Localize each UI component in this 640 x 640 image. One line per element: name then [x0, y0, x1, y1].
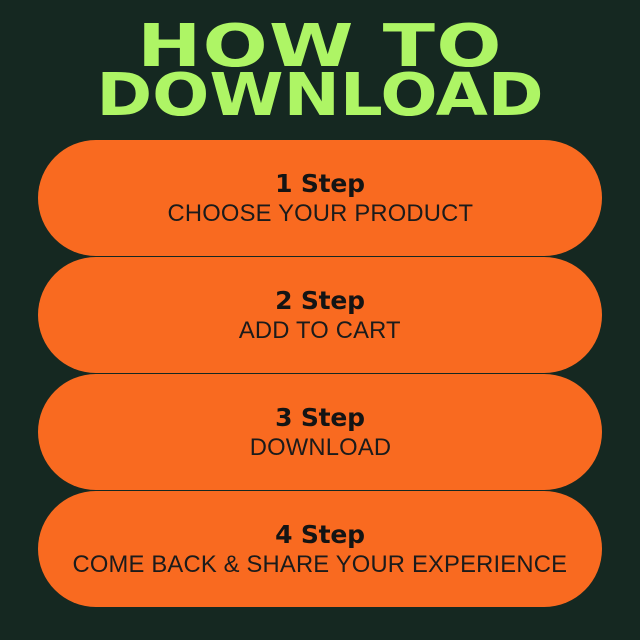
steps-list: 1 Step CHOOSE YOUR PRODUCT 2 Step ADD TO… [0, 140, 640, 620]
step-heading-4: 4 Step [275, 521, 365, 548]
step-heading-1: 1 Step [275, 170, 365, 197]
title-line-2: DOWNLOAD [0, 69, 640, 121]
step-card-2[interactable]: 2 Step ADD TO CART [38, 257, 602, 373]
step-heading-3: 3 Step [275, 404, 365, 431]
step-description-3: DOWNLOAD [249, 435, 391, 460]
step-description-2: ADD TO CART [239, 318, 401, 343]
step-description-4: COME BACK & SHARE YOUR EXPERIENCE [73, 552, 568, 577]
poster-title: HOW TO DOWNLOAD [0, 20, 640, 120]
step-description-1: CHOOSE YOUR PRODUCT [167, 201, 473, 226]
poster-canvas: HOW TO DOWNLOAD 1 Step CHOOSE YOUR PRODU… [0, 0, 640, 640]
step-heading-2: 2 Step [275, 287, 365, 314]
step-card-4[interactable]: 4 Step COME BACK & SHARE YOUR EXPERIENCE [38, 491, 602, 607]
step-card-3[interactable]: 3 Step DOWNLOAD [38, 374, 602, 490]
step-card-1[interactable]: 1 Step CHOOSE YOUR PRODUCT [38, 140, 602, 256]
